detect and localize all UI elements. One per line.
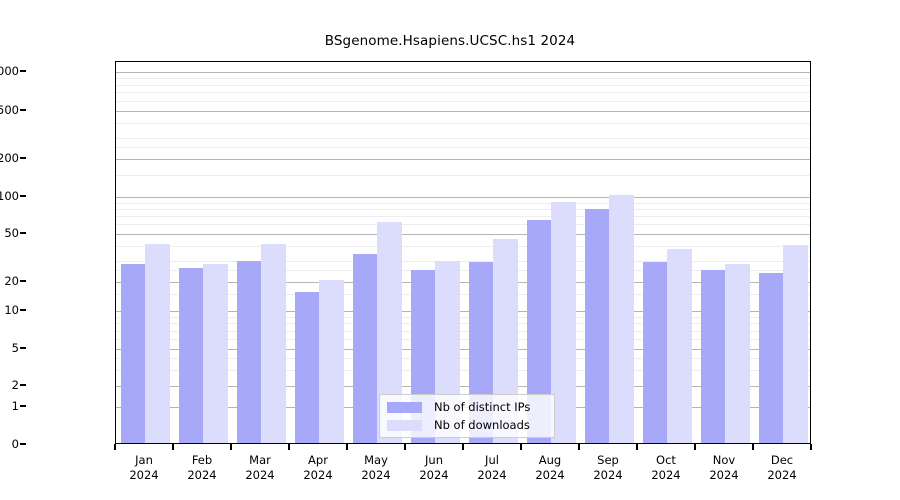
- x-tick-mark: [114, 444, 115, 450]
- y-tick-mark: [20, 109, 26, 110]
- x-axis: Jan2024Feb2024Mar2024Apr2024May2024Jun20…: [115, 444, 811, 500]
- x-tick-mark: [288, 444, 289, 450]
- x-tick-month: Aug: [535, 453, 564, 468]
- y-tick-mark: [20, 280, 26, 281]
- bar-downloads-apr[interactable]: [319, 280, 344, 443]
- x-tick-label-nov: Nov2024: [709, 453, 738, 482]
- x-tick-month: Feb: [187, 453, 216, 468]
- x-tick-label-jul: Jul2024: [477, 453, 506, 482]
- x-tick-month: Apr: [303, 453, 332, 468]
- y-tick-mark: [20, 309, 26, 310]
- y-tick-label: 1: [12, 399, 19, 413]
- x-tick-month: Jul: [477, 453, 506, 468]
- bar-distinct-ips-may[interactable]: [353, 254, 378, 443]
- y-tick-label: 50: [4, 226, 19, 240]
- legend-label-distinct-ips: Nb of distinct IPs: [434, 400, 530, 414]
- x-tick-mark: [520, 444, 521, 450]
- bar-group: [411, 62, 460, 443]
- bars-layer: [116, 62, 810, 443]
- bar-group: [179, 62, 228, 443]
- x-tick-label-apr: Apr2024: [303, 453, 332, 482]
- x-tick-label-aug: Aug2024: [535, 453, 564, 482]
- y-tick-mark: [20, 157, 26, 158]
- bar-downloads-jan[interactable]: [145, 244, 170, 443]
- x-tick-month: Nov: [709, 453, 738, 468]
- bar-downloads-oct[interactable]: [667, 249, 692, 443]
- bar-downloads-dec[interactable]: [783, 245, 808, 443]
- x-tick-month: Dec: [767, 453, 796, 468]
- bar-distinct-ips-nov[interactable]: [701, 270, 726, 443]
- bar-distinct-ips-apr[interactable]: [295, 292, 320, 443]
- bar-group: [353, 62, 402, 443]
- x-tick-year: 2024: [593, 468, 622, 483]
- x-tick-label-mar: Mar2024: [245, 453, 274, 482]
- bar-distinct-ips-sep[interactable]: [585, 209, 610, 443]
- bar-downloads-nov[interactable]: [725, 264, 750, 443]
- y-tick-mark: [20, 443, 26, 444]
- x-tick-month: May: [361, 453, 390, 468]
- bar-group: [759, 62, 808, 443]
- y-tick-label: 500: [0, 103, 19, 117]
- legend-swatch-icon-distinct-ips: [387, 402, 422, 413]
- x-tick-year: 2024: [419, 468, 448, 483]
- x-tick-label-oct: Oct2024: [651, 453, 680, 482]
- y-tick-label: 1000: [0, 64, 19, 78]
- bar-group: [237, 62, 286, 443]
- x-tick-mark: [694, 444, 695, 450]
- x-tick-label-may: May2024: [361, 453, 390, 482]
- x-tick-mark: [346, 444, 347, 450]
- bar-distinct-ips-feb[interactable]: [179, 268, 204, 443]
- x-tick-mark: [404, 444, 405, 450]
- x-tick-month: Jan: [129, 453, 158, 468]
- bar-downloads-feb[interactable]: [203, 264, 228, 443]
- x-tick-year: 2024: [477, 468, 506, 483]
- legend-swatch-icon-downloads: [387, 420, 422, 431]
- x-tick-year: 2024: [361, 468, 390, 483]
- bar-group: [295, 62, 344, 443]
- y-axis: 01251020501002005001000: [0, 0, 115, 500]
- legend-item-distinct-ips: Nb of distinct IPs: [387, 400, 547, 415]
- x-tick-label-jun: Jun2024: [419, 453, 448, 482]
- x-tick-month: Jun: [419, 453, 448, 468]
- x-tick-month: Sep: [593, 453, 622, 468]
- bar-distinct-ips-jan[interactable]: [121, 264, 146, 443]
- x-tick-year: 2024: [651, 468, 680, 483]
- x-tick-mark: [172, 444, 173, 450]
- x-tick-mark: [462, 444, 463, 450]
- x-tick-year: 2024: [535, 468, 564, 483]
- x-tick-year: 2024: [129, 468, 158, 483]
- bar-group: [643, 62, 692, 443]
- y-tick-label: 0: [12, 437, 19, 451]
- x-tick-mark: [752, 444, 753, 450]
- y-tick-label: 20: [4, 274, 19, 288]
- x-tick-month: Oct: [651, 453, 680, 468]
- y-tick-label: 5: [12, 341, 19, 355]
- x-tick-mark: [578, 444, 579, 450]
- bar-distinct-ips-oct[interactable]: [643, 262, 668, 443]
- y-tick-mark: [20, 384, 26, 385]
- chart-title: BSgenome.Hsapiens.UCSC.hs1 2024: [0, 33, 900, 49]
- bar-group: [527, 62, 576, 443]
- bar-group: [585, 62, 634, 443]
- x-tick-year: 2024: [187, 468, 216, 483]
- x-tick-label-dec: Dec2024: [767, 453, 796, 482]
- bar-group: [121, 62, 170, 443]
- x-tick-label-jan: Jan2024: [129, 453, 158, 482]
- y-tick-label: 2: [12, 378, 19, 392]
- plot-area: [115, 61, 811, 444]
- chart-container: BSgenome.Hsapiens.UCSC.hs1 2024 01251020…: [0, 0, 900, 500]
- legend-label-downloads: Nb of downloads: [434, 418, 530, 432]
- y-tick-mark: [20, 70, 26, 71]
- legend-item-downloads: Nb of downloads: [387, 418, 547, 433]
- y-tick-mark: [20, 195, 26, 196]
- x-tick-mark: [810, 444, 811, 450]
- y-tick-label: 100: [0, 189, 19, 203]
- chart-legend: Nb of distinct IPs Nb of downloads: [379, 394, 555, 438]
- x-tick-month: Mar: [245, 453, 274, 468]
- bar-group: [469, 62, 518, 443]
- x-tick-label-feb: Feb2024: [187, 453, 216, 482]
- y-tick-mark: [20, 347, 26, 348]
- x-tick-year: 2024: [709, 468, 738, 483]
- y-tick-mark: [20, 232, 26, 233]
- bar-group: [701, 62, 750, 443]
- y-tick-label: 200: [0, 151, 19, 165]
- x-tick-label-sep: Sep2024: [593, 453, 622, 482]
- bar-distinct-ips-mar[interactable]: [237, 261, 262, 443]
- bar-distinct-ips-dec[interactable]: [759, 273, 784, 443]
- x-tick-year: 2024: [767, 468, 796, 483]
- x-tick-mark: [230, 444, 231, 450]
- x-tick-year: 2024: [245, 468, 274, 483]
- y-tick-label: 10: [4, 303, 19, 317]
- x-tick-mark: [636, 444, 637, 450]
- x-tick-year: 2024: [303, 468, 332, 483]
- bar-downloads-sep[interactable]: [609, 195, 634, 443]
- y-tick-mark: [20, 405, 26, 406]
- bar-downloads-mar[interactable]: [261, 244, 286, 443]
